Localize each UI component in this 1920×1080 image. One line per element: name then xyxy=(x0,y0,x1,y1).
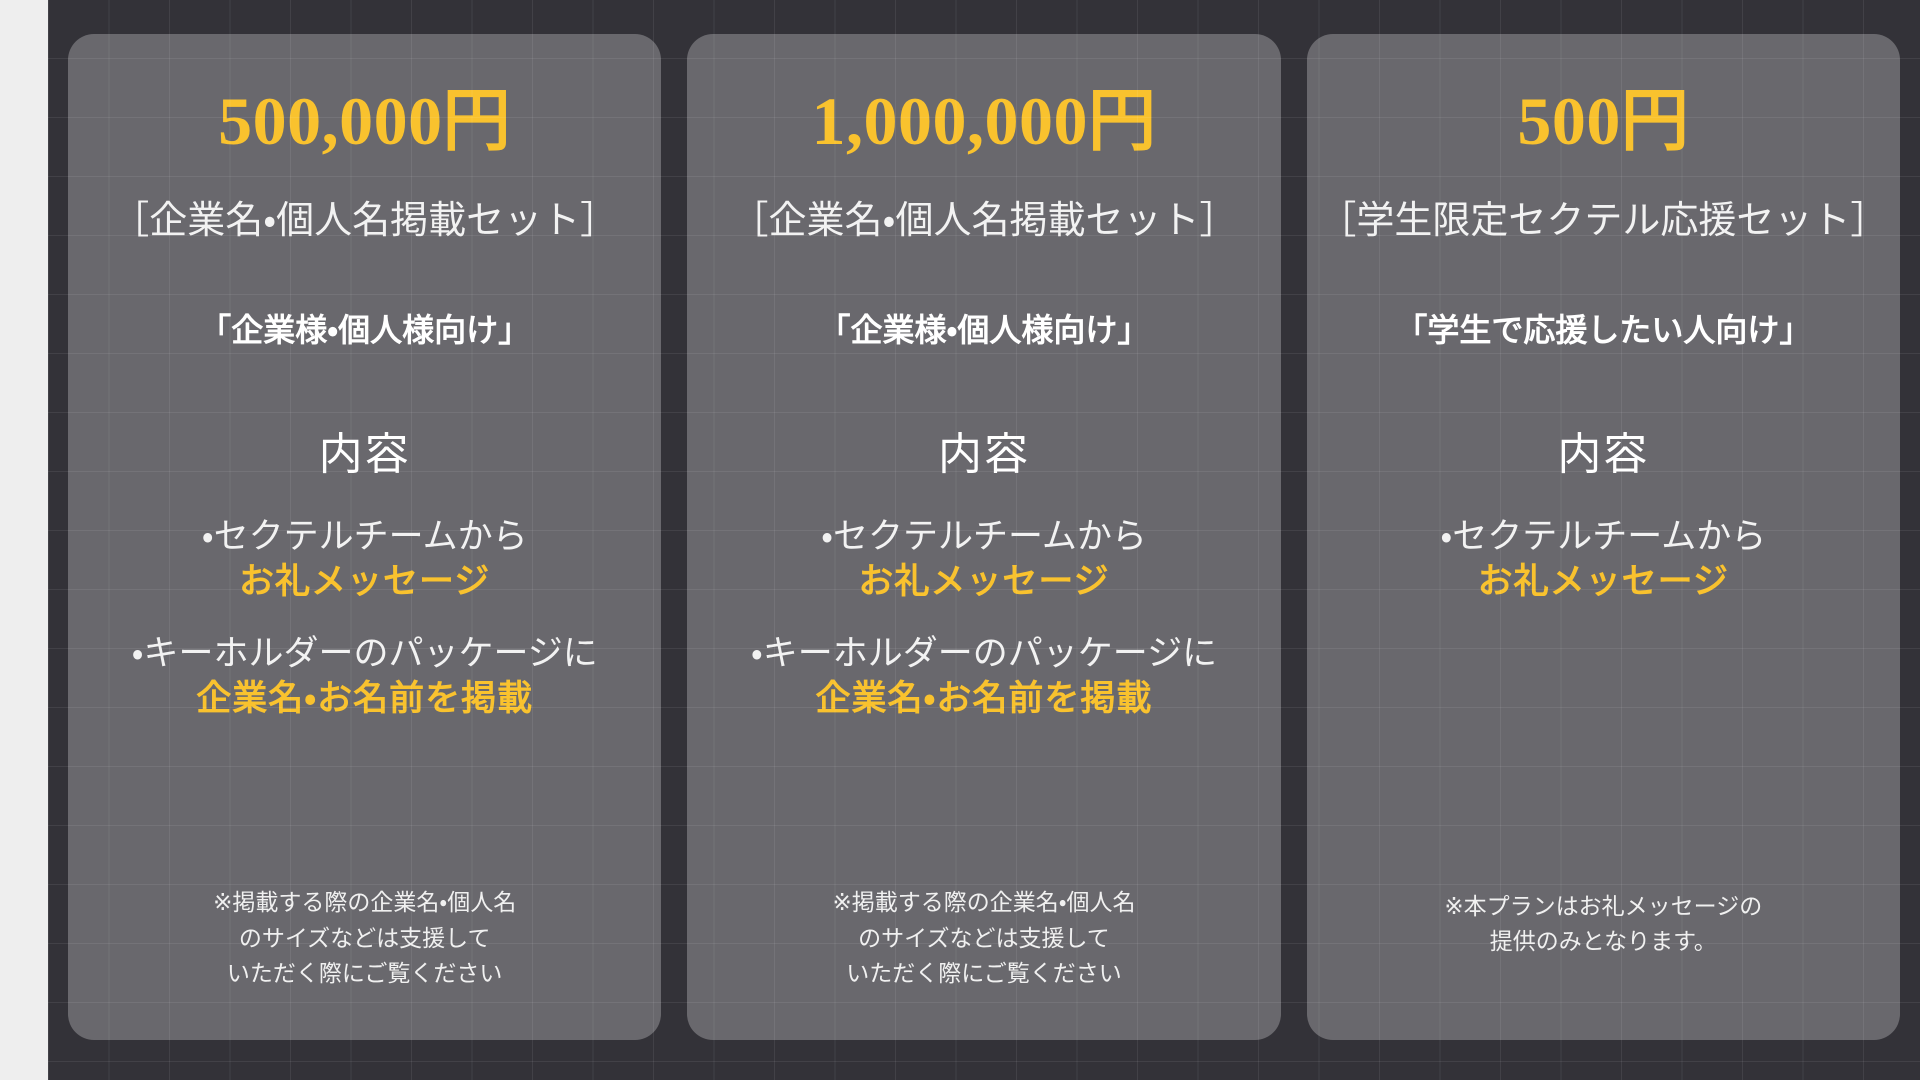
slide-stage: 500,000円 ［企業名・個人名掲載セット］ 「企業様・個人様向け」 内容 ・… xyxy=(0,0,1920,1080)
plan-footnote: ※掲載する際の企業名・個人名 のサイズなどは支援して いただく際にご覧ください xyxy=(832,885,1135,992)
plan-benefit-lead: ・キーホルダーのパッケージに xyxy=(84,631,645,677)
pricing-plan-card[interactable]: 1,000,000円 ［企業名・個人名掲載セット］ 「企業様・個人様向け」 内容… xyxy=(687,34,1280,1040)
plan-benefit-highlight: 企業名・お名前を掲載 xyxy=(703,676,1264,722)
plan-benefit-item: ・セクテルチームから お礼メッセージ xyxy=(703,514,1264,605)
plan-benefit-item: ・キーホルダーのパッケージに 企業名・お名前を掲載 xyxy=(703,631,1264,722)
plan-benefit-lead: ・キーホルダーのパッケージに xyxy=(703,631,1264,677)
plan-benefit-highlight: 企業名・お名前を掲載 xyxy=(84,676,645,722)
plan-audience: 「企業様・個人様向け」 xyxy=(199,311,530,349)
plan-benefit-highlight: お礼メッセージ xyxy=(703,559,1264,605)
plan-footnote: ※掲載する際の企業名・個人名 のサイズなどは支援して いただく際にご覧ください xyxy=(213,885,516,992)
plan-benefit-lead: ・セクテルチームから xyxy=(703,514,1264,560)
plan-benefit-item: ・セクテルチームから お礼メッセージ xyxy=(84,514,645,605)
pricing-plan-card[interactable]: 500,000円 ［企業名・個人名掲載セット］ 「企業様・個人様向け」 内容 ・… xyxy=(68,34,661,1040)
plan-benefit-item: ・キーホルダーのパッケージに 企業名・お名前を掲載 xyxy=(84,631,645,722)
plan-set-name: ［企業名・個人名掲載セット］ xyxy=(111,199,618,245)
plan-benefit-item: ・セクテルチームから お礼メッセージ xyxy=(1323,514,1884,605)
pricing-plan-card[interactable]: 500円 ［学生限定セクテル応援セット］ 「学生で応援したい人向け」 内容 ・セ… xyxy=(1307,34,1900,1040)
plan-benefit-lead: ・セクテルチームから xyxy=(1323,514,1884,560)
plan-benefit-list: ・セクテルチームから お礼メッセージ xyxy=(1323,514,1884,631)
plan-audience: 「学生で応援したい人向け」 xyxy=(1395,311,1811,349)
plan-footnote: ※本プランはお礼メッセージの 提供のみとなります。 xyxy=(1444,889,1762,960)
plan-audience: 「企業様・個人様向け」 xyxy=(819,311,1150,349)
plan-price: 500,000円 xyxy=(218,86,511,157)
plan-price: 1,000,000円 xyxy=(811,86,1156,157)
plan-contents-heading: 内容 xyxy=(1557,431,1649,479)
plan-set-name: ［企業名・個人名掲載セット］ xyxy=(731,199,1238,245)
plan-contents-heading: 内容 xyxy=(938,431,1030,479)
pricing-plan-card-row: 500,000円 ［企業名・個人名掲載セット］ 「企業様・個人様向け」 内容 ・… xyxy=(68,34,1900,1040)
slide-canvas: 500,000円 ［企業名・個人名掲載セット］ 「企業様・個人様向け」 内容 ・… xyxy=(48,0,1920,1080)
plan-benefit-list: ・セクテルチームから お礼メッセージ ・キーホルダーのパッケージに 企業名・お名… xyxy=(84,514,645,748)
plan-benefit-lead: ・セクテルチームから xyxy=(84,514,645,560)
plan-price: 500円 xyxy=(1517,86,1689,157)
plan-set-name: ［学生限定セクテル応援セット］ xyxy=(1318,199,1888,245)
plan-benefit-list: ・セクテルチームから お礼メッセージ ・キーホルダーのパッケージに 企業名・お名… xyxy=(703,514,1264,748)
plan-contents-heading: 内容 xyxy=(319,431,411,479)
plan-benefit-highlight: お礼メッセージ xyxy=(84,559,645,605)
plan-benefit-highlight: お礼メッセージ xyxy=(1323,559,1884,605)
